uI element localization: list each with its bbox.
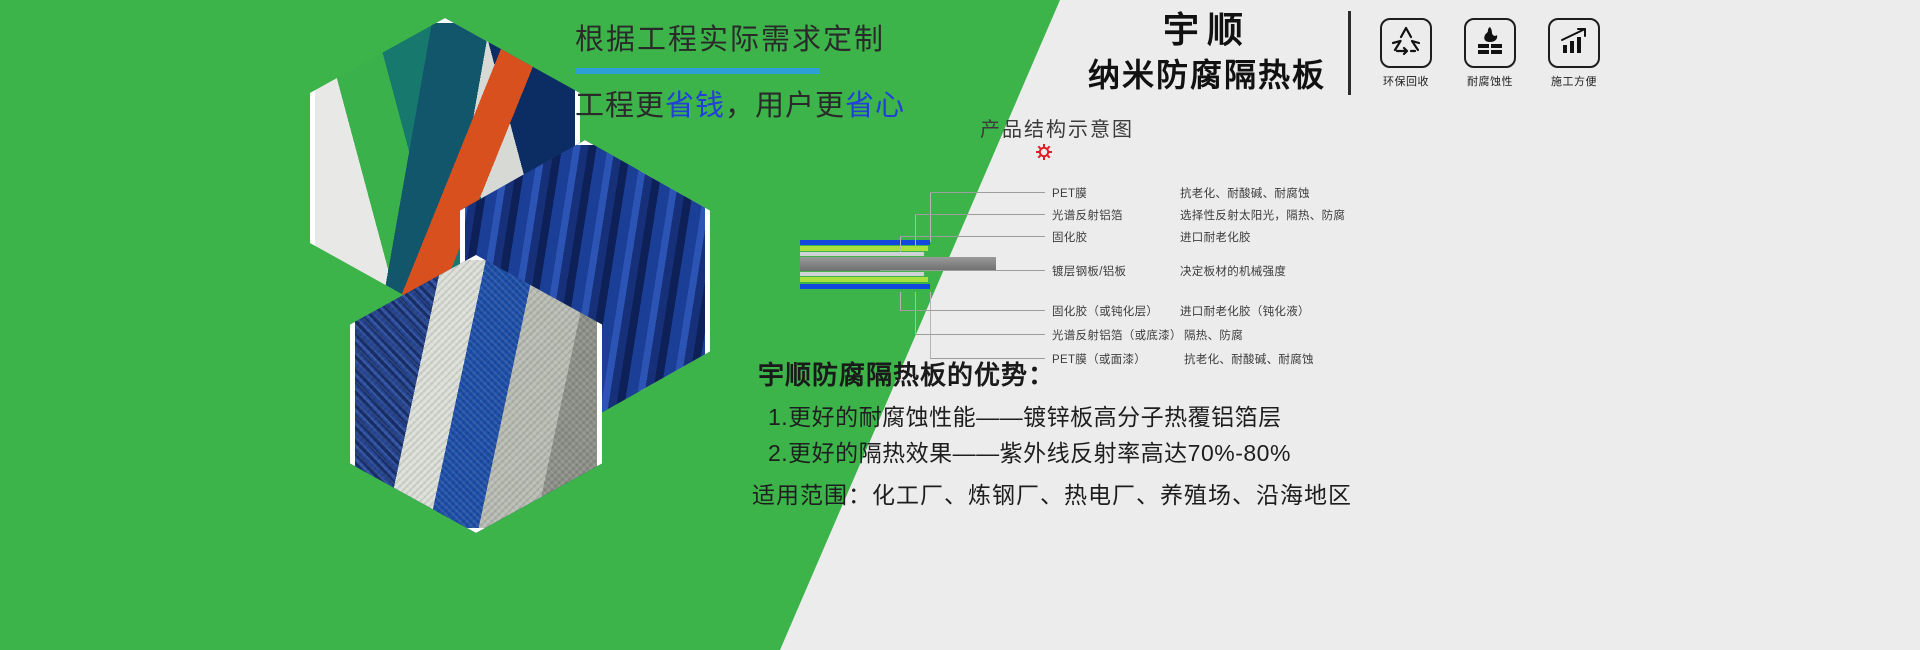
headline-line2-prefix: 工程更 [575,90,665,122]
brand-names: 宇顺 纳米防腐隔热板 [1088,10,1348,97]
product-name: 纳米防腐隔热板 [1088,55,1326,97]
badge-corrosion-box [1464,18,1516,68]
layer-label-1: PET膜 [1052,185,1087,201]
leader-vertical-1 [930,192,931,242]
layer-bar-glue-top [800,252,924,256]
advantage-item-2: 2.更好的隔热效果——紫外线反射率高达70%-80% [768,434,1291,468]
brand-divider [1348,11,1351,95]
headline-block: 根据工程实际需求定制 工程更省钱，用户更省心 [575,22,875,124]
layer-desc-3: 进口耐老化胶 [1180,229,1251,245]
badge-recycle-label: 环保回收 [1377,73,1435,89]
badge-installation-label: 施工方便 [1545,73,1603,89]
layer-desc-4: 决定板材的机械强度 [1180,263,1286,279]
structure-diagram: PET膜 光谱反射铝箔 固化胶 镀层钢板/铝板 固化胶（或钝化层） 光谱反射铝箔… [780,180,1340,365]
headline-accent-save-money: 省钱 [665,90,725,122]
layer-label-3: 固化胶 [1052,229,1087,245]
leader-vertical-3 [900,236,901,252]
leader-vertical-6 [930,292,931,358]
leader-line-2 [915,214,1045,215]
leader-vertical-2 [915,214,916,248]
layer-bar-pet-bottom [800,284,930,289]
growth-chart-icon [1557,24,1591,61]
layer-bar-foil-bottom [800,277,928,282]
badge-recycle-box [1380,18,1432,68]
structure-diagram-title: 产品结构示意图 [980,113,1134,142]
layer-desc-1: 抗老化、耐酸碱、耐腐蚀 [1180,185,1310,201]
layer-label-6: 光谱反射铝箔（或底漆） [1052,327,1182,343]
badge-corrosion: 耐腐蚀性 [1461,18,1519,89]
leader-vertical-4 [900,292,901,310]
layer-bar-glue-bottom [800,272,924,276]
layer-desc-7: 抗老化、耐酸碱、耐腐蚀 [1184,351,1314,367]
leader-line-3 [900,236,1045,237]
layer-desc-6: 隔热、防腐 [1184,327,1243,343]
recycle-icon [1389,24,1423,61]
badge-corrosion-label: 耐腐蚀性 [1461,73,1519,89]
layer-desc-2: 选择性反射太阳光，隔热、防腐 [1180,207,1345,223]
layer-bar-pet-top [800,240,930,245]
layer-label-2: 光谱反射铝箔 [1052,207,1123,223]
badge-installation-box [1548,18,1600,68]
badge-installation: 施工方便 [1545,18,1603,89]
layer-label-5: 固化胶（或钝化层） [1052,303,1158,319]
advantages-title-text: 宇顺防腐隔热板的优势 [758,360,1028,390]
promo-banner: 根据工程实际需求定制 工程更省钱，用户更省心 宇顺 纳米防腐隔热板 [0,0,1920,650]
feature-badges: 环保回收 耐腐蚀性 [1377,18,1603,89]
leader-line-1 [930,192,1045,193]
ornament-icon [1035,143,1053,161]
fire-brick-icon [1473,24,1507,61]
layer-desc-5: 进口耐老化胶（钝化液） [1180,303,1310,319]
layer-label-7: PET膜（或面漆） [1052,351,1146,367]
advantages-title: 宇顺防腐隔热板的优势： [758,355,1055,392]
leader-line-5 [900,310,1045,311]
headline-divider-rule [575,68,820,74]
leader-vertical-5 [915,292,916,334]
headline-line-1: 根据工程实际需求定制 [575,22,875,58]
layer-bar-steel-core [800,257,996,271]
application-scope: 适用范围：化工厂、炼钢厂、热电厂、养殖场、沿海地区 [752,476,1352,510]
headline-accent-peace-of-mind: 省心 [845,90,905,122]
advantages-title-colon: ： [1028,360,1055,390]
badge-recycle: 环保回收 [1377,18,1435,89]
layer-label-4: 镀层钢板/铝板 [1052,263,1126,279]
brand-block: 宇顺 纳米防腐隔热板 [1088,10,1603,97]
leader-line-4 [880,270,1045,271]
brand-name: 宇顺 [1088,10,1326,51]
layer-bar-foil-top [800,246,928,251]
advantage-item-1: 1.更好的耐腐蚀性能——镀锌板高分子热覆铝箔层 [768,398,1282,432]
headline-line-2: 工程更省钱，用户更省心 [575,82,875,124]
headline-line2-mid: ，用户更 [725,90,845,122]
leader-line-6 [915,334,1045,335]
